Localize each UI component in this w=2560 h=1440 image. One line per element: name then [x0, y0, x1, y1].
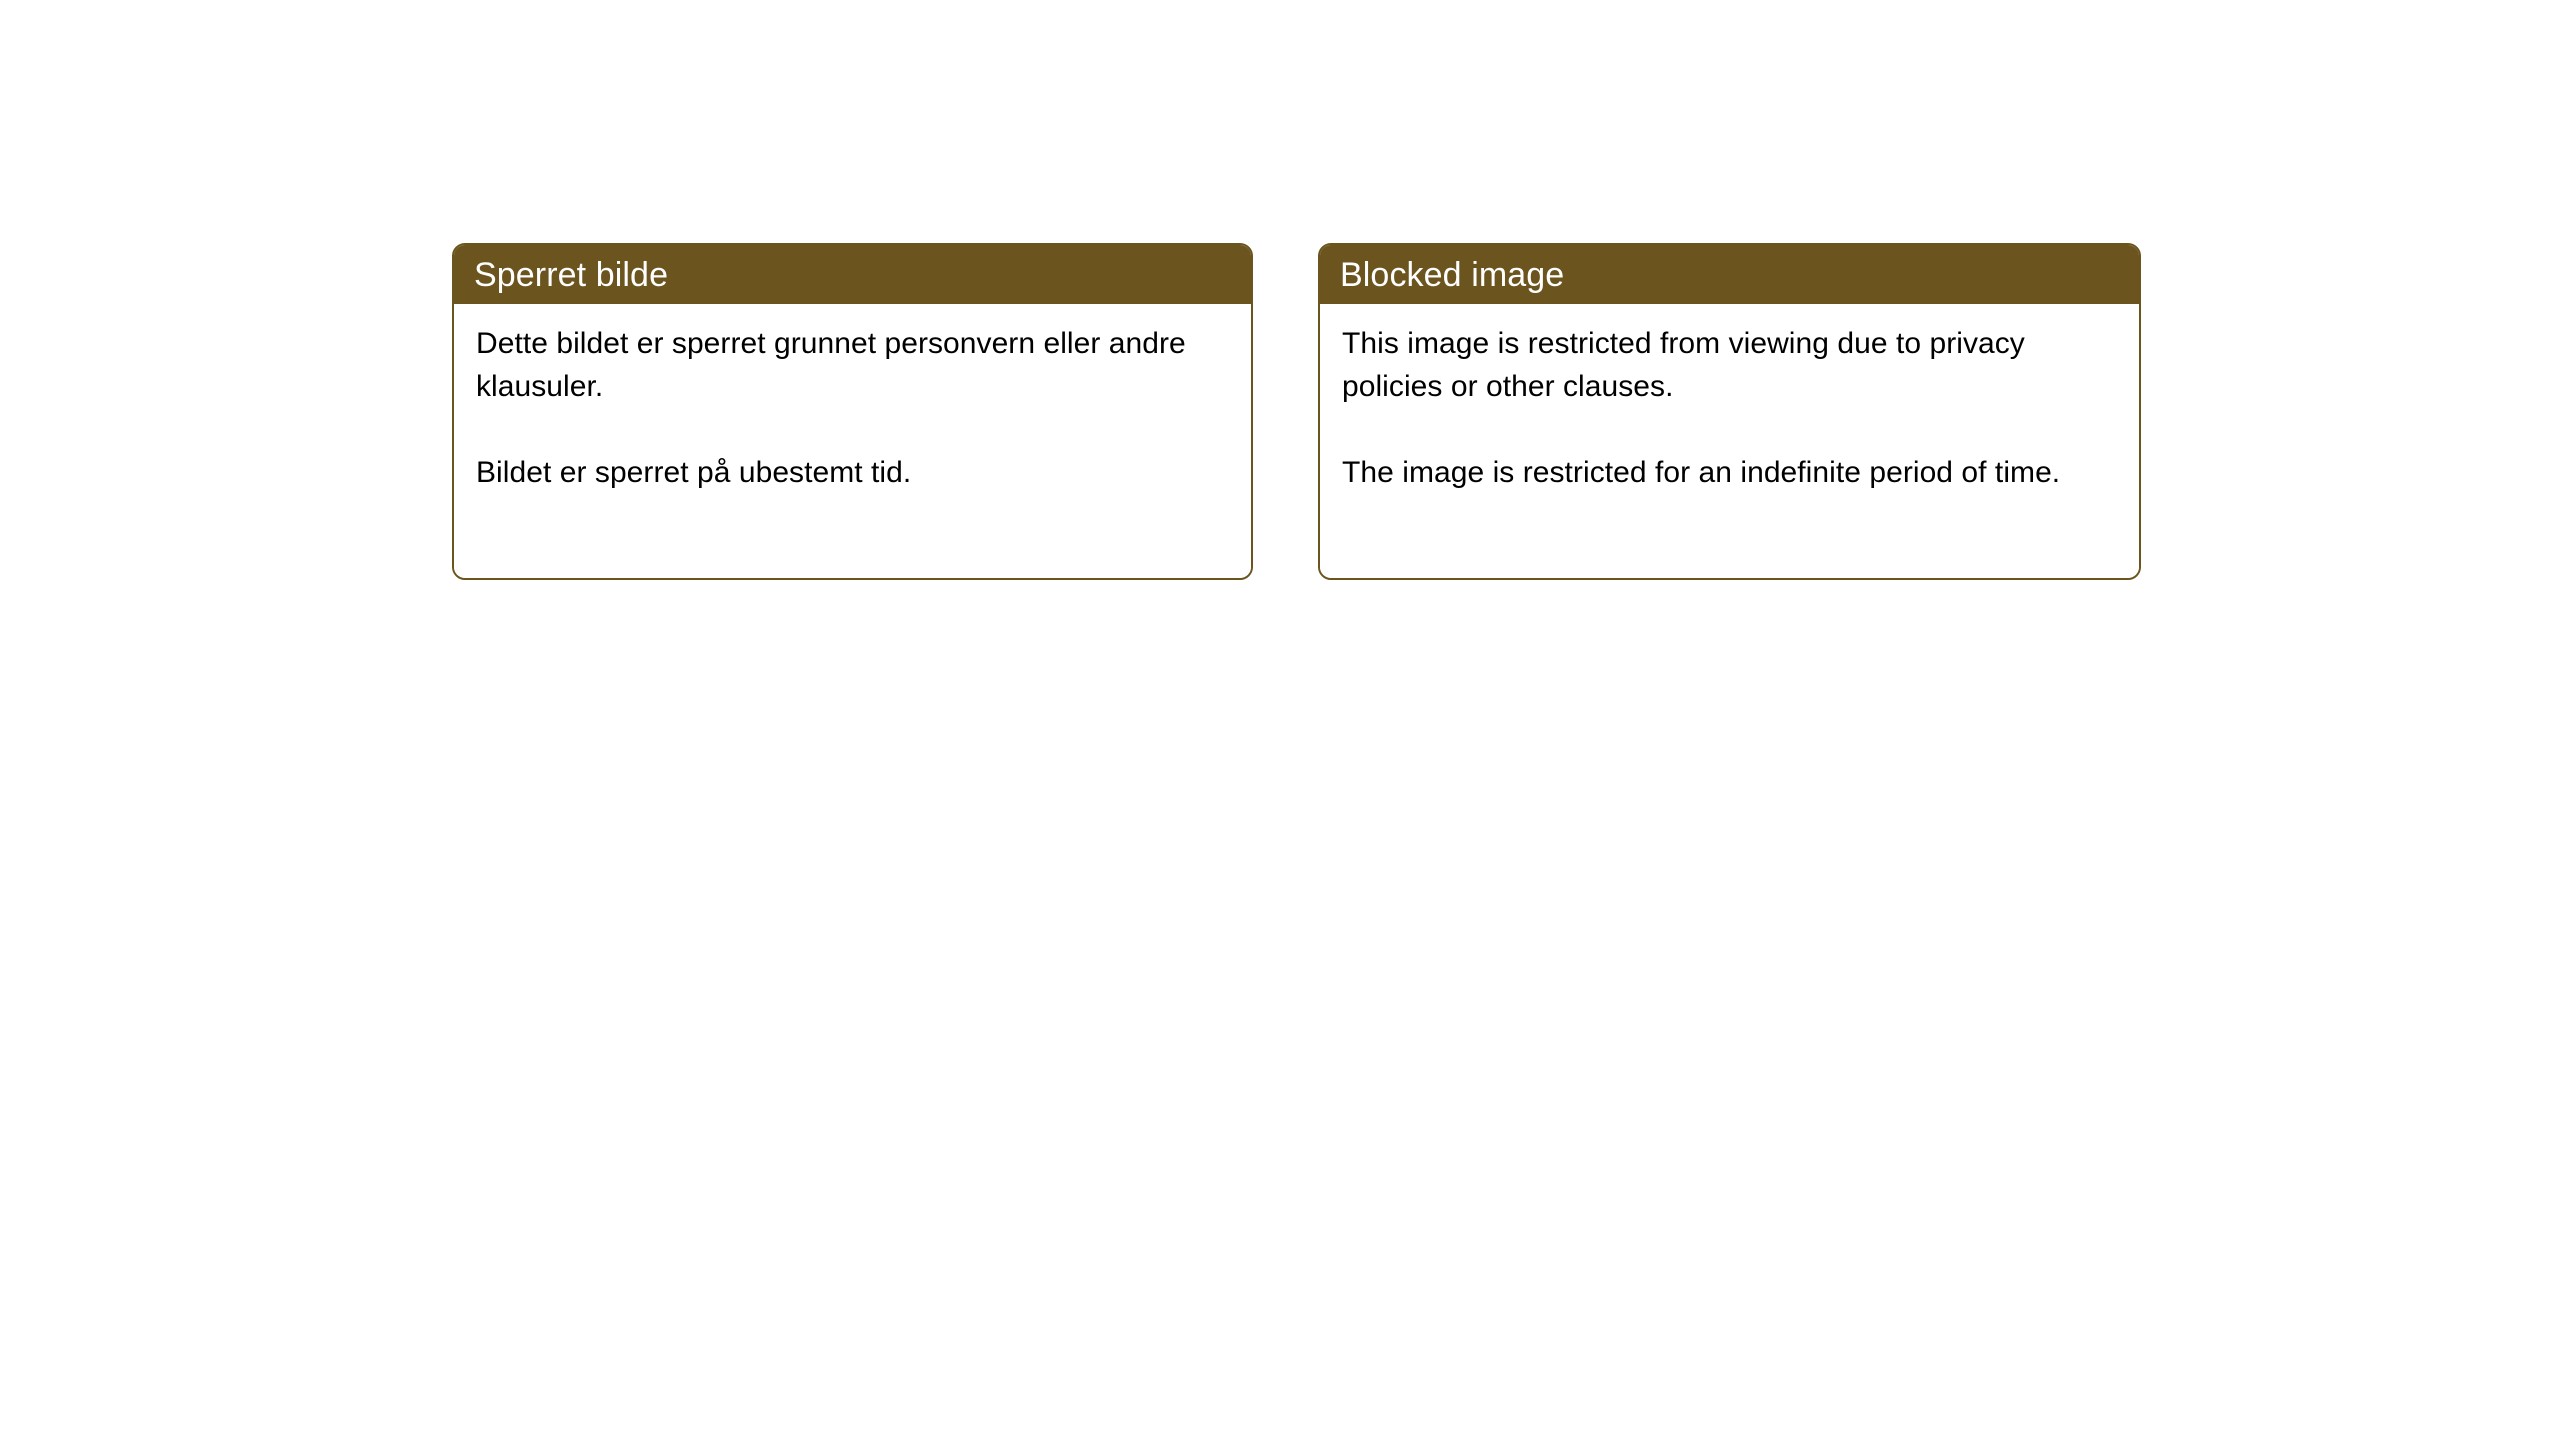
- paragraph-spacer-english: [1342, 408, 2117, 451]
- panel-paragraph-english-1: This image is restricted from viewing du…: [1342, 322, 2117, 408]
- paragraph-spacer-norwegian: [476, 408, 1229, 451]
- panel-body-english: This image is restricted from viewing du…: [1320, 304, 2139, 578]
- panel-header-english: Blocked image: [1320, 245, 2139, 304]
- blocked-image-panel-norwegian: Sperret bilde Dette bildet er sperret gr…: [452, 243, 1253, 580]
- panel-paragraph-norwegian-1: Dette bildet er sperret grunnet personve…: [476, 322, 1229, 408]
- page-root: Sperret bilde Dette bildet er sperret gr…: [0, 0, 2560, 1440]
- panel-header-norwegian: Sperret bilde: [454, 245, 1251, 304]
- panel-title-english: Blocked image: [1340, 255, 1564, 295]
- panel-title-norwegian: Sperret bilde: [474, 255, 668, 295]
- panel-body-norwegian: Dette bildet er sperret grunnet personve…: [454, 304, 1251, 578]
- panel-paragraph-norwegian-2: Bildet er sperret på ubestemt tid.: [476, 451, 1229, 494]
- blocked-image-panel-english: Blocked image This image is restricted f…: [1318, 243, 2141, 580]
- panel-paragraph-english-2: The image is restricted for an indefinit…: [1342, 451, 2117, 494]
